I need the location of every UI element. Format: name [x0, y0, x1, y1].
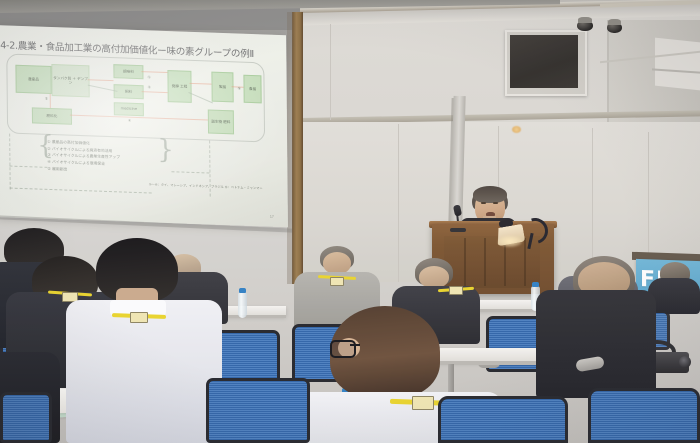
podium-slat-1	[464, 238, 466, 286]
camera-lens-icon	[679, 356, 691, 368]
speaker-hair	[473, 186, 507, 203]
glasses-icon	[330, 340, 356, 358]
chair-front-4[interactable]	[0, 392, 52, 443]
water-bottle-1	[238, 292, 247, 318]
attendee-r-torso	[536, 290, 656, 398]
wall-panel-seam-1	[398, 124, 399, 282]
attendee-white-badge	[130, 312, 148, 323]
wooden-column	[292, 12, 303, 284]
microphone-base	[450, 228, 466, 232]
podium-slat-4	[524, 238, 526, 286]
attendee-grey-badge	[330, 277, 344, 286]
attendee-grey-scalp	[323, 252, 351, 274]
glasses-temple	[350, 344, 360, 346]
ceiling-dome-speaker-mount	[578, 17, 592, 23]
attendee-glasses-badge	[412, 396, 434, 410]
chair-front-1[interactable]	[206, 378, 310, 443]
speaker-eye-left	[481, 202, 486, 204]
podium-slat-2	[484, 238, 486, 286]
conference-room-photo: 4-2.農業・食品加工業の高付加価値化ー味の素グループの例Ⅱ 農産品 タンパク質…	[0, 0, 700, 443]
wall-panel-seam-5	[330, 24, 331, 120]
wall-alcove-panel	[655, 38, 700, 91]
projection-screen: 4-2.農業・食品加工業の高付加価値化ー味の素グループの例Ⅱ 農産品 タンパク質…	[0, 25, 288, 227]
wall-light-reflection	[512, 126, 521, 133]
speaker-eye-right	[493, 202, 498, 204]
water-bottle-1-cap	[239, 288, 246, 293]
screen-projection-glow	[0, 25, 288, 227]
column-shadow	[287, 12, 293, 284]
wall-monitor-screen	[510, 35, 578, 88]
chair-front-2[interactable]	[438, 396, 568, 443]
attendee-cr-scalp	[419, 266, 449, 288]
water-bottle-2-cap	[532, 282, 539, 287]
desk-lamp-glow	[498, 236, 522, 247]
attendee-cr-badge	[449, 286, 463, 295]
chair-front-3[interactable]	[588, 388, 700, 443]
ceiling-dome-speaker-2-mount	[608, 19, 621, 25]
